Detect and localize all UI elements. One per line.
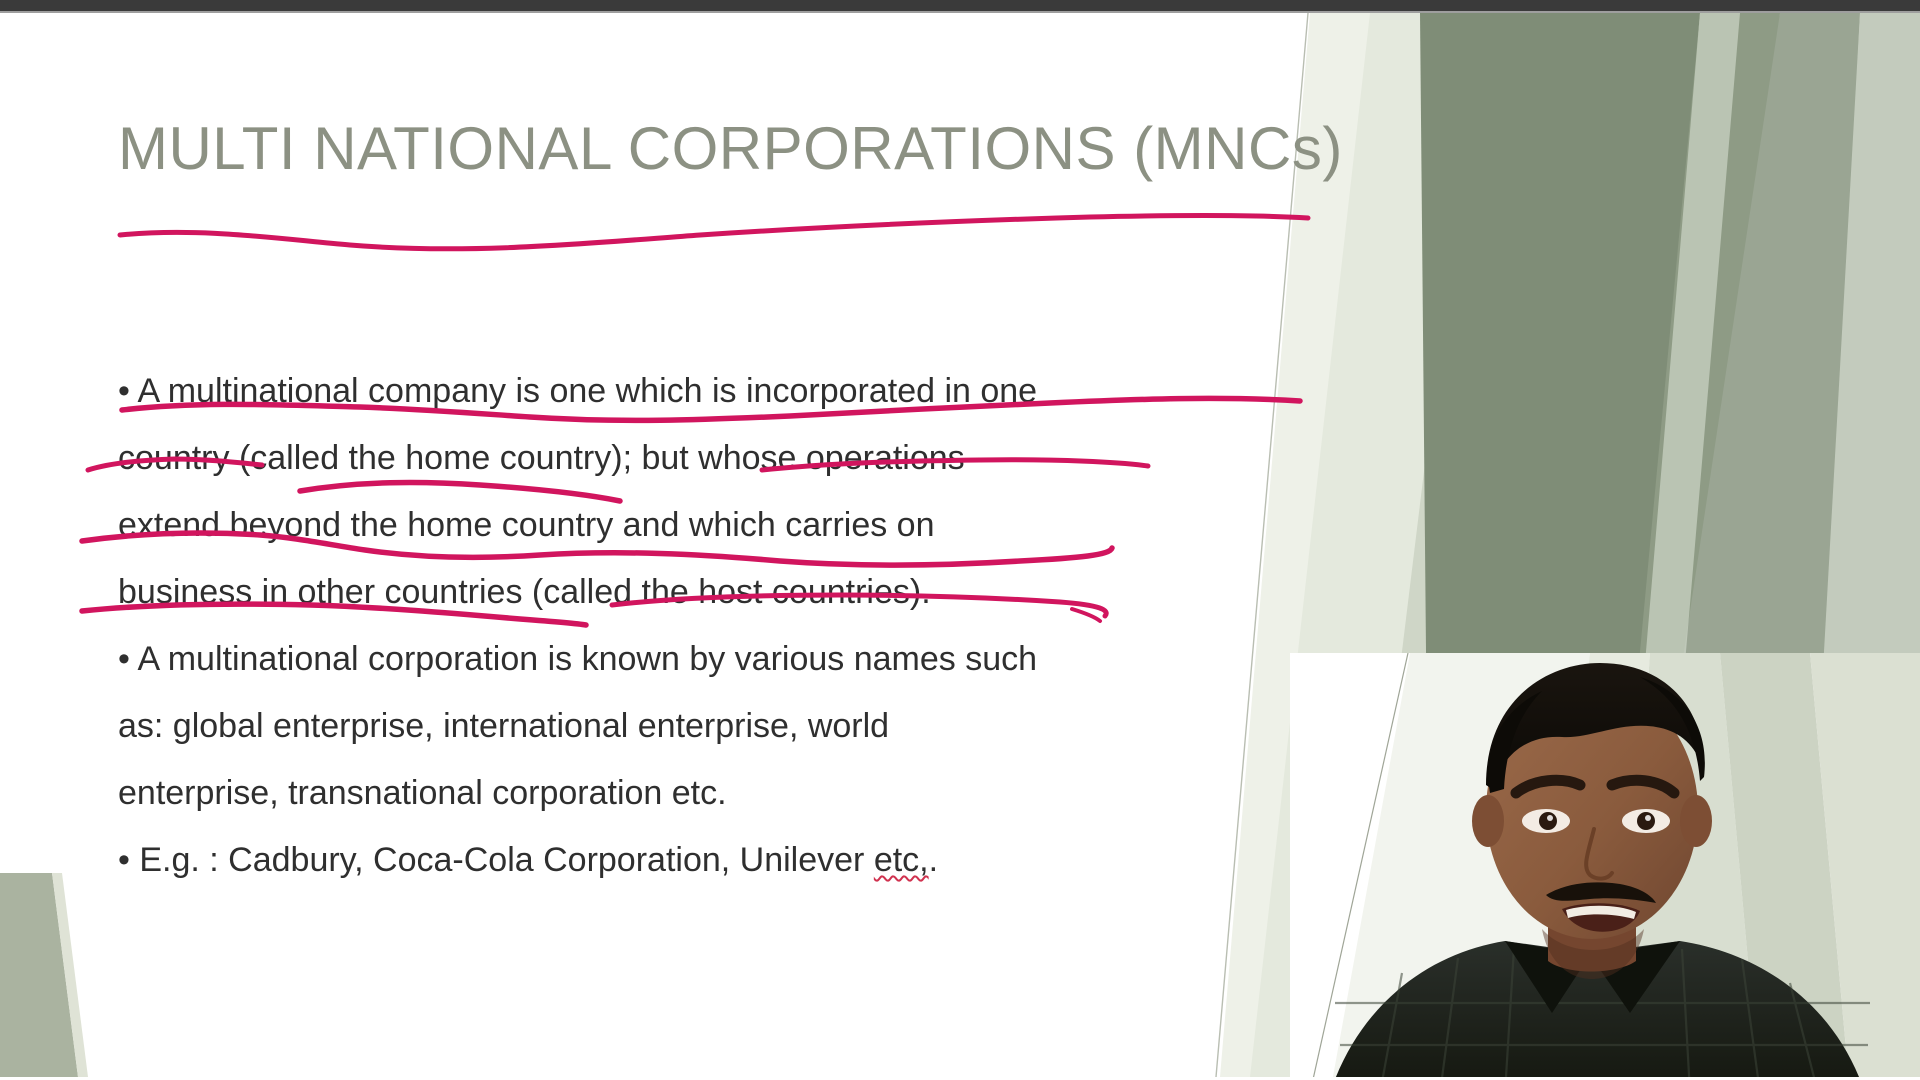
- page-title: MULTI NATIONAL CORPORATIONS (MNCs): [118, 117, 1438, 181]
- body-line: extend beyond the home country and which…: [118, 492, 1248, 559]
- screen: MULTI NATIONAL CORPORATIONS (MNCs) • A m…: [0, 0, 1920, 1080]
- facet-decoration-bottom-left: [0, 873, 230, 1077]
- body-line: as: global enterprise, international ent…: [118, 693, 1248, 760]
- presenter-video-overlay[interactable]: [1290, 653, 1920, 1077]
- presentation-slide[interactable]: MULTI NATIONAL CORPORATIONS (MNCs) • A m…: [0, 13, 1920, 1077]
- body-line: • A multinational company is one which i…: [118, 358, 1248, 425]
- body-line: country (called the home country); but w…: [118, 425, 1248, 492]
- body-line-last-suffix: .: [929, 841, 938, 879]
- ink-underline-title: [120, 216, 1308, 249]
- body-line-last-prefix: • E.g. : Cadbury, Coca-Cola Corporation,…: [118, 841, 874, 879]
- slide-body: • A multinational company is one which i…: [118, 358, 1248, 894]
- body-line-last: • E.g. : Cadbury, Coca-Cola Corporation,…: [118, 827, 1248, 894]
- spellcheck-word: etc,: [874, 841, 929, 879]
- window-chrome-bar: [0, 0, 1920, 11]
- body-line: business in other countries (called the …: [118, 559, 1248, 626]
- body-line: • A multinational corporation is known b…: [118, 626, 1248, 693]
- body-line: enterprise, transnational corporation et…: [118, 760, 1248, 827]
